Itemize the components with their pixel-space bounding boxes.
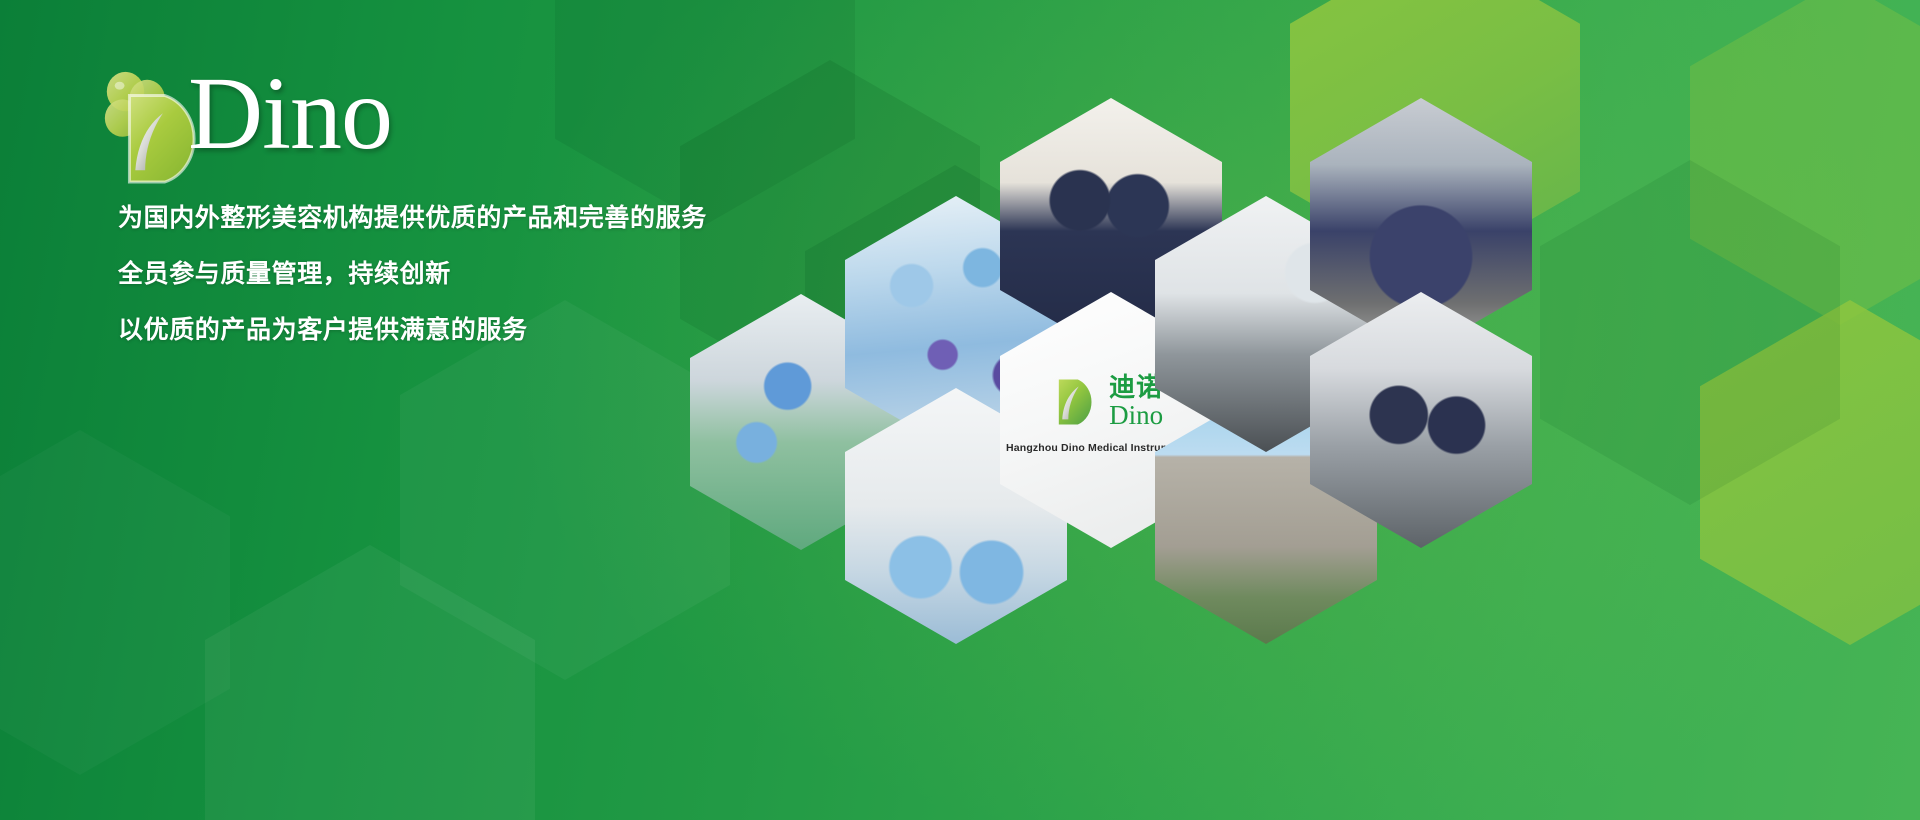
hero-text-block: Dino 为国内外整形美容机构提供优质的产品和完善的服务 全员参与质量管理，持续…: [0, 0, 860, 820]
slogan-list: 为国内外整形美容机构提供优质的产品和完善的服务 全员参与质量管理，持续创新 以优…: [118, 206, 838, 374]
dino-leaf-logo-icon: [1051, 376, 1103, 428]
brand-logo[interactable]: Dino: [96, 66, 396, 186]
brand-wordmark: Dino: [188, 62, 392, 166]
hero-banner: Dino 为国内外整形美容机构提供优质的产品和完善的服务 全员参与质量管理，持续…: [0, 0, 1920, 820]
slogan-line-3: 以优质的产品为客户提供满意的服务: [118, 318, 838, 343]
hexagon-photo-collage: 迪诺® Dino Hangzhou Dino Medical Instrumen…: [690, 88, 1920, 648]
slogan-line-1: 为国内外整形美容机构提供优质的产品和完善的服务: [118, 206, 838, 231]
logo-card-en-name: Dino: [1109, 401, 1171, 429]
slogan-line-2: 全员参与质量管理，持续创新: [118, 262, 838, 287]
